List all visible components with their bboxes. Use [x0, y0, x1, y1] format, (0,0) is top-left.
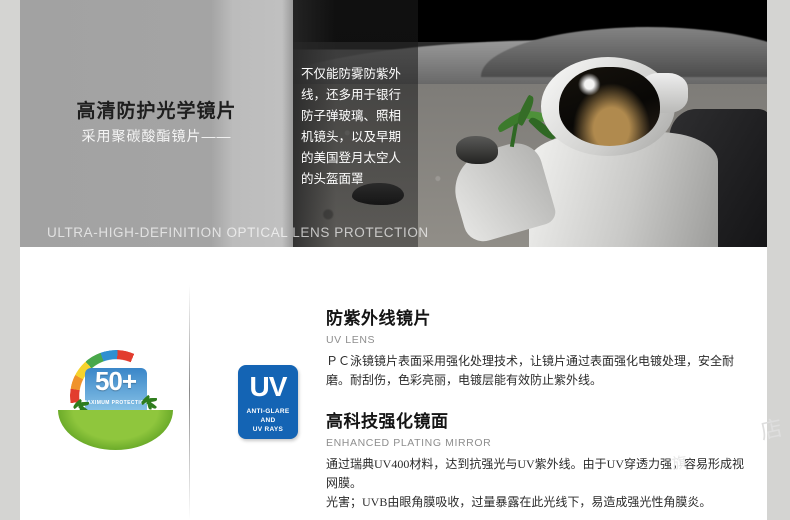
astronaut-figure [462, 49, 767, 247]
product-detail-page: 高清防护光学镜片 采用聚碳酸酯镜片—— 不仅能防雾防紫外线，还多用于银行防子弹玻… [0, 0, 790, 520]
feature-title: 防紫外线镜片 [326, 304, 751, 329]
watermark-glyph-secondary: 旗 [671, 451, 689, 474]
gold-visor [559, 67, 660, 146]
banner-headline: 高清防护光学镜片 [20, 96, 293, 123]
banner-overlay-text: 不仅能防雾防紫外线，还多用于银行防子弹玻璃、照相机镜头，以及早期的美国登月太空人… [301, 64, 413, 190]
feature-body: ＰＣ泳镜镜片表面采用强化处理技术，让镜片通过表面强化电镀处理，安全耐磨。耐刮伤，… [326, 352, 751, 390]
uv-label: UV [238, 371, 298, 403]
banner-english-caption: ULTRA-HIGH-DEFINITION OPTICAL LENS PROTE… [47, 225, 747, 240]
uv-caption-line1: ANTI-GLARE [246, 408, 289, 415]
spacesuit-glove [456, 136, 499, 164]
feature-subtitle: UV LENS [326, 334, 751, 346]
vertical-divider [189, 285, 190, 520]
feature-subtitle: ENHANCED PLATING MIRROR [326, 437, 751, 449]
banner-subheadline: 采用聚碳酸酯镜片—— [20, 126, 293, 146]
feature-title: 高科技强化镜面 [326, 407, 751, 432]
spf-rainbow-badge-icon: 50+ MAXIMUM PROTECTION [58, 350, 173, 455]
uv-caption-line2: AND [261, 417, 276, 424]
uv-caption-line3: UV RAYS [253, 426, 283, 433]
green-hill-shape [58, 410, 173, 450]
feature-block-uv-lens: 防紫外线镜片 UV LENS ＰＣ泳镜镜片表面采用强化处理技术，让镜片通过表面强… [326, 304, 751, 390]
uv-caption: ANTI-GLARE AND UV RAYS [238, 407, 298, 434]
hero-banner: 高清防护光学镜片 采用聚碳酸酯镜片—— 不仅能防雾防紫外线，还多用于银行防子弹玻… [20, 0, 767, 247]
features-section: 50+ MAXIMUM PROTECTION UV ANTI-GLARE AND… [20, 247, 767, 520]
banner-gray-panel: 高清防护光学镜片 采用聚碳酸酯镜片—— [20, 0, 293, 247]
uv-protection-badge-icon: UV ANTI-GLARE AND UV RAYS [238, 365, 298, 439]
banner-overlay-card: 不仅能防雾防紫外线，还多用于银行防子弹玻璃、照相机镜头，以及早期的美国登月太空人… [293, 0, 418, 247]
feature-block-plating-mirror: 高科技强化镜面 ENHANCED PLATING MIRROR 通过瑞典UV40… [326, 407, 751, 512]
spf-value: 50+ [58, 366, 173, 397]
